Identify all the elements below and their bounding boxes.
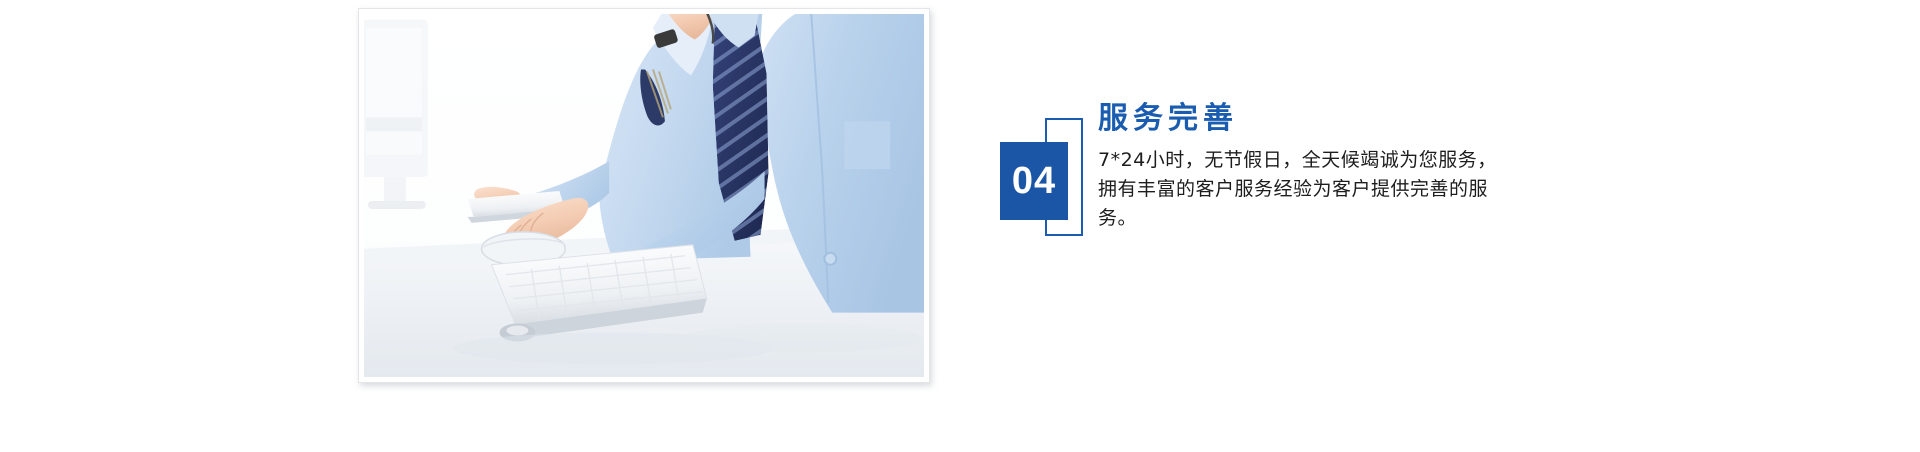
- feature-heading: 服务完善: [1098, 100, 1518, 138]
- feature-content: 04 服务完善 7*24小时，无节假日，全天候竭诚为您服务，拥有丰富的客户服务经…: [1000, 100, 1560, 300]
- customer-service-photo: [364, 14, 924, 377]
- step-badge-group: 04: [1000, 118, 1090, 238]
- service-feature-banner: 04 服务完善 7*24小时，无节假日，全天候竭诚为您服务，拥有丰富的客户服务经…: [0, 0, 1920, 452]
- feature-description: 7*24小时，无节假日，全天候竭诚为您服务，拥有丰富的客户服务经验为客户提供完善…: [1098, 146, 1498, 234]
- step-number-badge: 04: [1000, 142, 1068, 220]
- photo-panel: [358, 8, 930, 383]
- feature-text-block: 服务完善 7*24小时，无节假日，全天候竭诚为您服务，拥有丰富的客户服务经验为客…: [1098, 100, 1518, 234]
- customer-service-illustration: [364, 14, 924, 377]
- step-number-label: 04: [1012, 162, 1056, 200]
